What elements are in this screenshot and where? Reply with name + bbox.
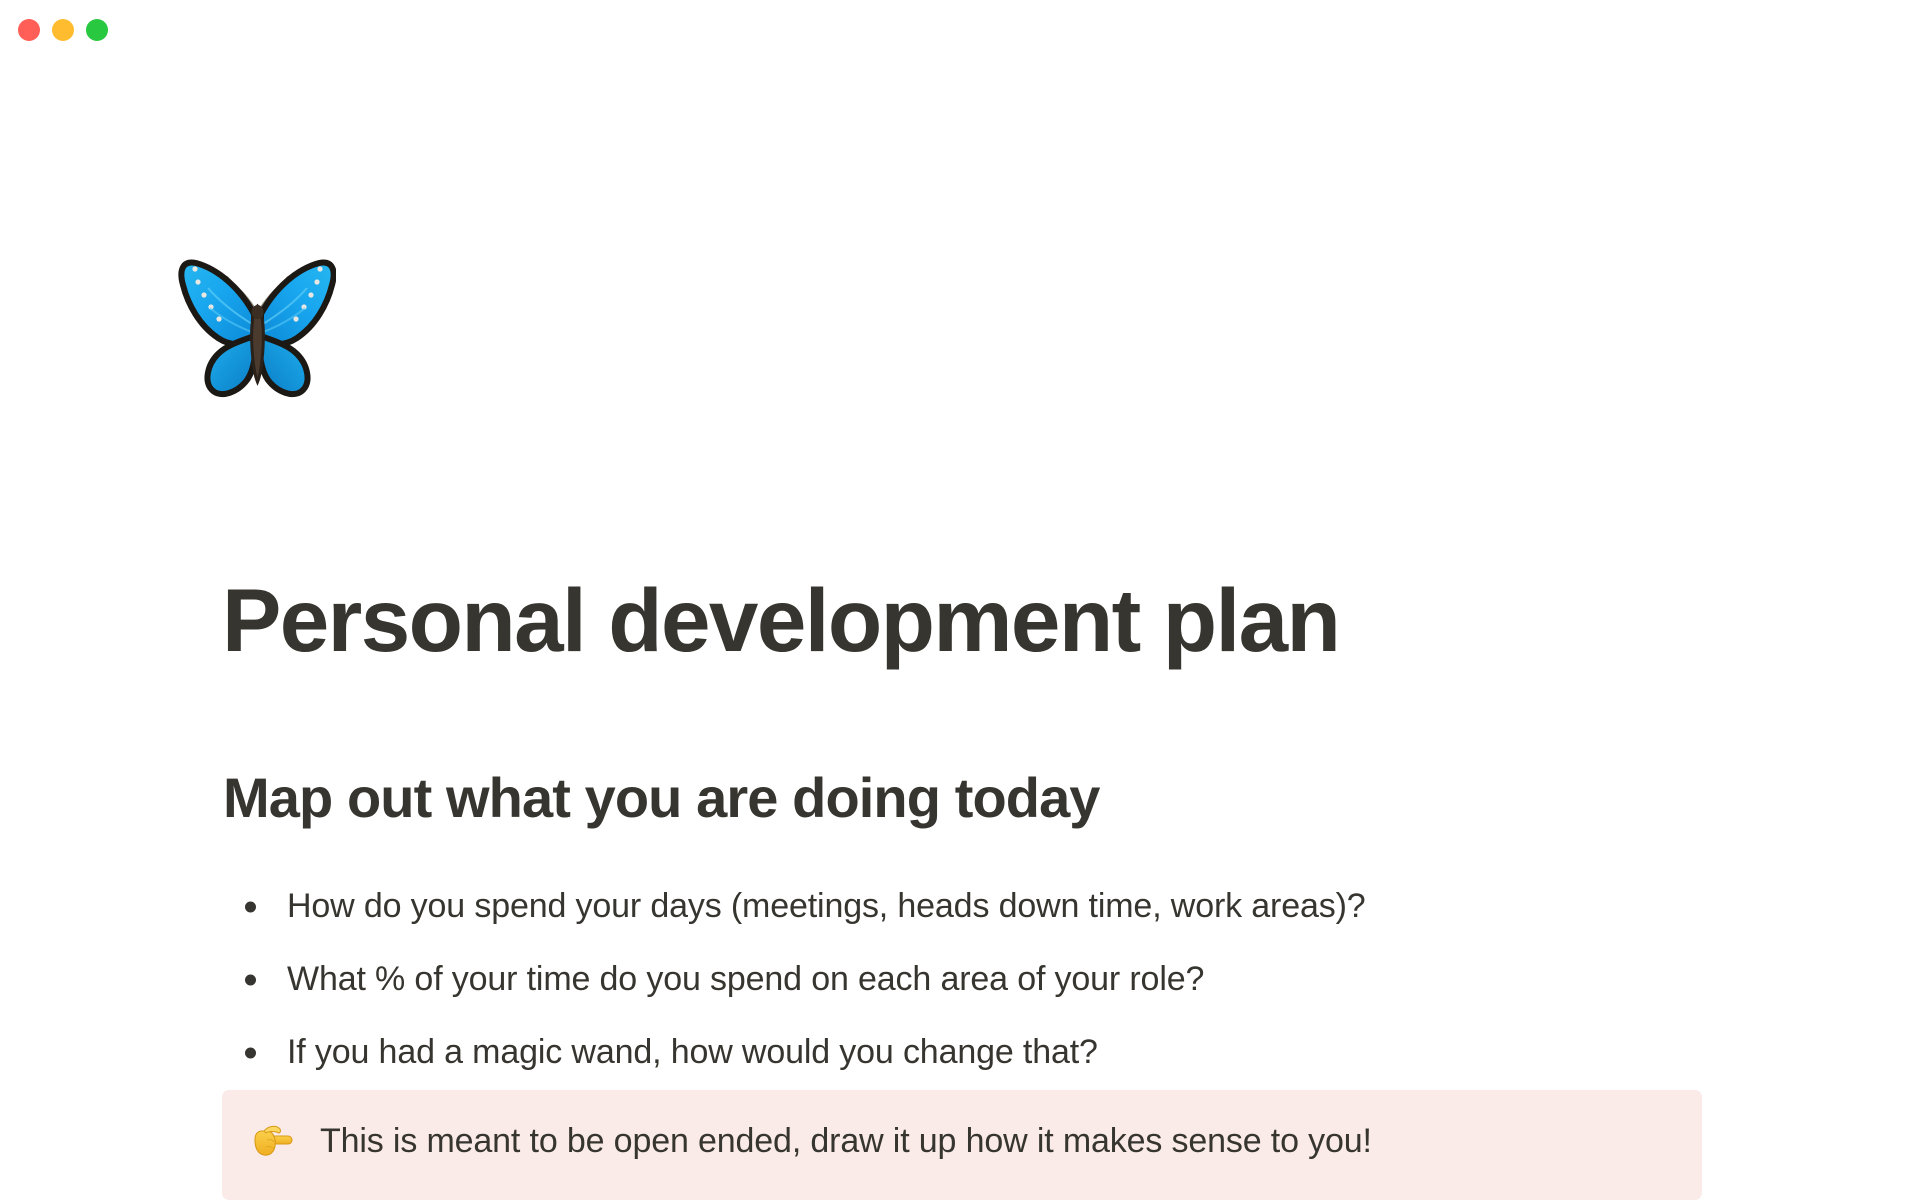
bullet-dot-icon bbox=[245, 901, 256, 912]
callout-block[interactable]: This is meant to be open ended, draw it … bbox=[222, 1090, 1702, 1200]
list-item-text: How do you spend your days (meetings, he… bbox=[287, 882, 1366, 931]
bullet-dot-icon bbox=[245, 974, 256, 985]
butterfly-icon[interactable] bbox=[178, 252, 336, 400]
bulleted-list: How do you spend your days (meetings, he… bbox=[223, 870, 1703, 1089]
callout-text: This is meant to be open ended, draw it … bbox=[320, 1118, 1372, 1164]
document-page: Personal development plan Map out what y… bbox=[0, 0, 1920, 1200]
section-heading[interactable]: Map out what you are doing today bbox=[223, 767, 1723, 829]
list-item-text: If you had a magic wand, how would you c… bbox=[287, 1028, 1098, 1077]
page-title[interactable]: Personal development plan bbox=[222, 575, 1722, 666]
bullet-dot-icon bbox=[245, 1047, 256, 1058]
pointing-right-hand-icon[interactable] bbox=[252, 1118, 294, 1162]
list-item[interactable]: How do you spend your days (meetings, he… bbox=[223, 870, 1703, 943]
list-item[interactable]: What % of your time do you spend on each… bbox=[223, 943, 1703, 1016]
list-item[interactable]: If you had a magic wand, how would you c… bbox=[223, 1016, 1703, 1089]
list-item-text: What % of your time do you spend on each… bbox=[287, 955, 1204, 1004]
